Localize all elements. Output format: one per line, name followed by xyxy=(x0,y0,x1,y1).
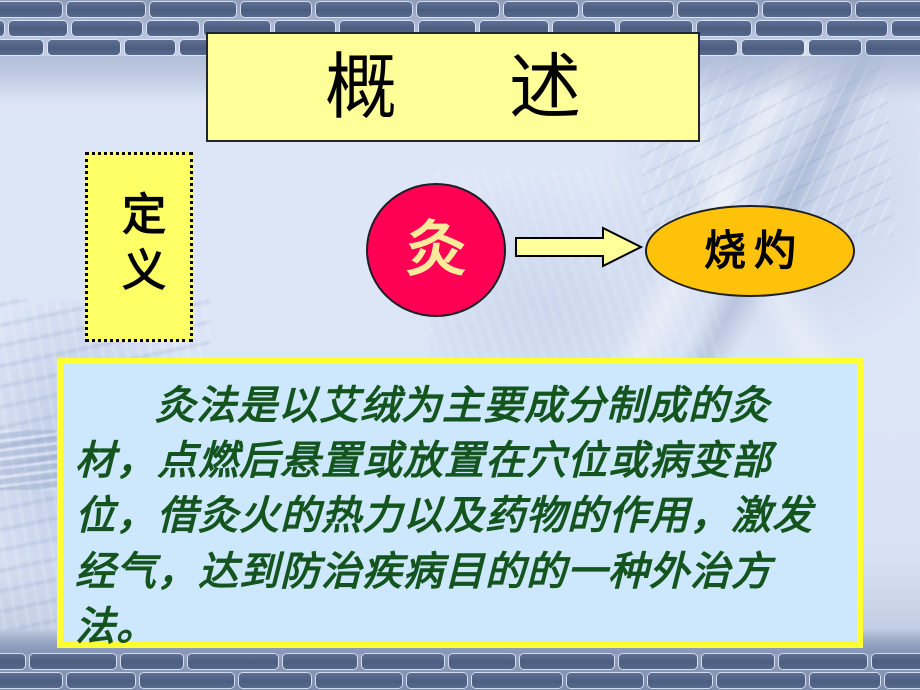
brick xyxy=(188,654,278,669)
brick xyxy=(67,2,145,17)
brick xyxy=(147,21,199,36)
brick xyxy=(362,654,444,669)
brick xyxy=(9,21,67,36)
brick xyxy=(717,673,805,688)
brick xyxy=(866,40,920,55)
brick xyxy=(809,40,861,55)
brick xyxy=(283,654,357,669)
brick xyxy=(241,2,311,17)
brick xyxy=(648,673,712,688)
brick xyxy=(0,2,62,17)
brick-row xyxy=(0,0,920,19)
brick xyxy=(0,654,25,669)
body-paragraph: 灸法是以艾绒为主要成分制成的灸材，点燃后悬置或放置在穴位或病变部位，借灸火的热力… xyxy=(75,378,845,654)
brick xyxy=(407,673,467,688)
brick xyxy=(316,673,402,688)
slide-title-box: 概 述 xyxy=(206,32,700,142)
slide-canvas: 概 述 定义 灸 烧灼 灸法是以艾绒为主要成分制成的灸材，点燃后悬置或放置在穴位… xyxy=(0,0,920,690)
brick xyxy=(697,21,751,36)
brick xyxy=(472,673,562,688)
burning-ellipse-shape: 烧灼 xyxy=(645,205,855,297)
brick xyxy=(702,654,774,669)
brick-row xyxy=(0,652,920,671)
brick xyxy=(678,2,758,17)
brick xyxy=(619,654,697,669)
brick xyxy=(520,654,614,669)
brick xyxy=(417,2,499,17)
brick xyxy=(0,21,4,36)
brick xyxy=(48,40,120,55)
brick xyxy=(872,654,920,669)
brick xyxy=(140,673,234,688)
brick xyxy=(856,2,920,17)
brick-wall-bottom xyxy=(0,652,920,690)
brick xyxy=(827,21,887,36)
moxibustion-circle-label: 灸 xyxy=(406,220,466,280)
body-text-box: 灸法是以艾绒为主要成分制成的灸材，点燃后悬置或放置在穴位或病变部位，借灸火的热力… xyxy=(57,358,863,648)
brick xyxy=(567,673,643,688)
brick xyxy=(67,673,135,688)
page-title: 概 述 xyxy=(305,51,601,123)
brick-row xyxy=(0,671,920,690)
brick xyxy=(742,40,804,55)
right-arrow-icon xyxy=(515,226,643,268)
brick xyxy=(504,2,578,17)
burning-ellipse-label: 烧灼 xyxy=(696,230,804,272)
brick xyxy=(0,673,62,688)
brick xyxy=(125,40,175,55)
brick xyxy=(810,673,880,688)
definition-callout-box: 定义 xyxy=(85,152,193,342)
brick xyxy=(121,654,183,669)
brick xyxy=(0,40,43,55)
brick xyxy=(72,21,142,36)
brick xyxy=(583,2,673,17)
brick xyxy=(30,654,116,669)
brick xyxy=(779,654,867,669)
brick xyxy=(892,21,920,36)
brick xyxy=(763,2,851,17)
brick xyxy=(150,2,236,17)
brick xyxy=(756,21,822,36)
moxibustion-circle-shape: 灸 xyxy=(366,183,506,317)
brick xyxy=(885,673,920,688)
brick xyxy=(449,654,515,669)
brick xyxy=(316,2,412,17)
brick xyxy=(239,673,311,688)
definition-label: 定义 xyxy=(116,191,162,303)
